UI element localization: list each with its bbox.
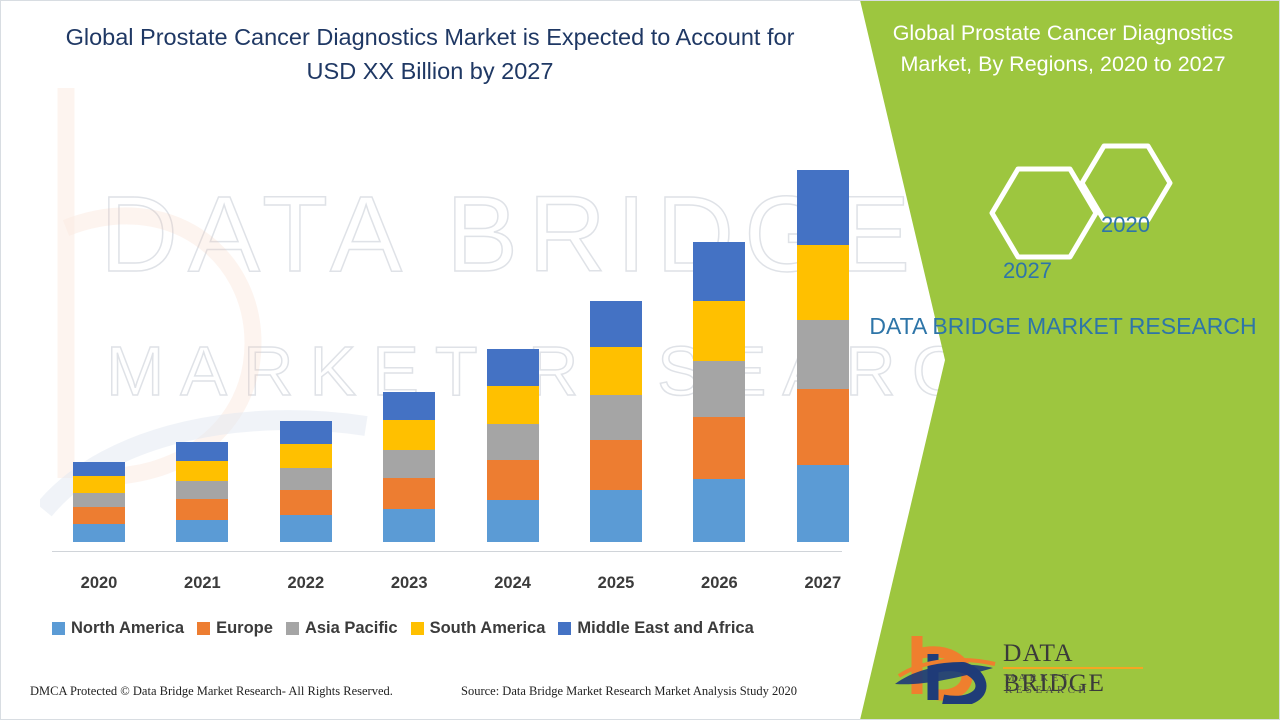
legend-item[interactable]: South America: [411, 619, 546, 638]
bar-segment: [176, 481, 228, 499]
bar-group: [176, 442, 228, 542]
bar-segment: [487, 424, 539, 460]
bar-segment: [73, 462, 125, 476]
bar-segment: [487, 460, 539, 500]
bar-segment: [383, 420, 435, 450]
bar-segment: [176, 442, 228, 461]
legend-item[interactable]: North America: [52, 619, 184, 638]
bar-segment: [693, 242, 745, 301]
bar-segment: [73, 507, 125, 524]
dbmr-logo: DATA BRIDGE MARKET RESEARCH: [893, 632, 1143, 704]
bar-segment: [797, 389, 849, 465]
x-axis-label: 2027: [783, 574, 863, 593]
legend-item[interactable]: Europe: [197, 619, 273, 638]
x-axis-label: 2021: [162, 574, 242, 593]
bar-segment: [487, 386, 539, 424]
bar-segment: [280, 468, 332, 490]
x-axis-label: 2024: [473, 574, 553, 593]
bar-group: [590, 301, 642, 542]
legend-swatch: [52, 622, 65, 635]
bar-segment: [280, 515, 332, 542]
hexagon-label-2020: 2020: [1101, 212, 1150, 238]
legend-label: Europe: [216, 619, 273, 638]
bar-segment: [590, 301, 642, 347]
bar-segment: [797, 245, 849, 320]
panel-brand-name: DATA BRIDGE MARKET RESEARCH: [868, 310, 1258, 343]
legend-label: Asia Pacific: [305, 619, 398, 638]
legend-swatch: [558, 622, 571, 635]
bar-segment: [590, 347, 642, 395]
bar-segment: [280, 490, 332, 515]
bar-group: [383, 392, 435, 542]
bar-segment: [797, 170, 849, 245]
footer-source: Source: Data Bridge Market Research Mark…: [461, 684, 797, 699]
bar-segment: [487, 349, 539, 386]
legend-label: North America: [71, 619, 184, 638]
hexagon-outline-2020: [1082, 146, 1170, 220]
bar-segment: [590, 490, 642, 542]
bar-segment: [693, 301, 745, 361]
bar-segment: [280, 421, 332, 444]
legend-swatch: [411, 622, 424, 635]
bar-segment: [176, 499, 228, 520]
legend-swatch: [286, 622, 299, 635]
bar-segment: [590, 440, 642, 490]
bar-segment: [73, 493, 125, 507]
page-title: Global Prostate Cancer Diagnostics Marke…: [60, 20, 800, 88]
legend-item[interactable]: Middle East and Africa: [558, 619, 753, 638]
bar-segment: [693, 479, 745, 542]
bar-segment: [693, 361, 745, 417]
dbmr-logo-rule: [1003, 667, 1143, 669]
bar-segment: [383, 392, 435, 420]
stacked-bar-chart: [52, 170, 842, 560]
bar-segment: [383, 450, 435, 478]
x-axis-label: 2022: [266, 574, 346, 593]
dbmr-logo-mark: [893, 632, 998, 704]
bar-segment: [487, 500, 539, 542]
hexagon-badges: 2020 2027: [960, 138, 1210, 288]
bar-segment: [280, 444, 332, 468]
legend-label: South America: [430, 619, 546, 638]
legend-swatch: [197, 622, 210, 635]
hexagon-shapes: [960, 138, 1210, 288]
legend-label: Middle East and Africa: [577, 619, 753, 638]
chart-plot-area: [52, 170, 842, 551]
bar-group: [280, 421, 332, 542]
bar-group: [73, 462, 125, 542]
x-axis-line: [52, 551, 842, 552]
dbmr-logo-subtitle: MARKET RESEARCH: [1005, 672, 1143, 696]
bar-segment: [383, 509, 435, 542]
footer-copyright: DMCA Protected © Data Bridge Market Rese…: [30, 684, 393, 699]
bar-segment: [176, 461, 228, 481]
x-axis-label: 2026: [679, 574, 759, 593]
bar-segment: [383, 478, 435, 509]
bar-segment: [73, 476, 125, 493]
bar-segment: [73, 524, 125, 542]
panel-title: Global Prostate Cancer Diagnostics Marke…: [868, 18, 1258, 80]
legend-item[interactable]: Asia Pacific: [286, 619, 398, 638]
bar-group: [693, 242, 745, 542]
infographic-page: DATA BRIDGE MARKET RESEARCH Global Prost…: [0, 0, 1280, 720]
hexagon-label-2027: 2027: [1003, 258, 1052, 284]
x-axis-label: 2025: [576, 574, 656, 593]
bar-segment: [176, 520, 228, 542]
x-axis-label: 2020: [59, 574, 139, 593]
bar-segment: [590, 395, 642, 440]
chart-legend: North AmericaEuropeAsia PacificSouth Ame…: [52, 616, 842, 640]
bar-segment: [693, 417, 745, 479]
bar-segment: [797, 465, 849, 542]
x-axis-tick-labels: 20202021202220232024202520262027: [52, 574, 842, 598]
x-axis-label: 2023: [369, 574, 449, 593]
bar-segment: [797, 320, 849, 389]
bar-group: [487, 349, 539, 542]
bar-group: [797, 170, 849, 542]
